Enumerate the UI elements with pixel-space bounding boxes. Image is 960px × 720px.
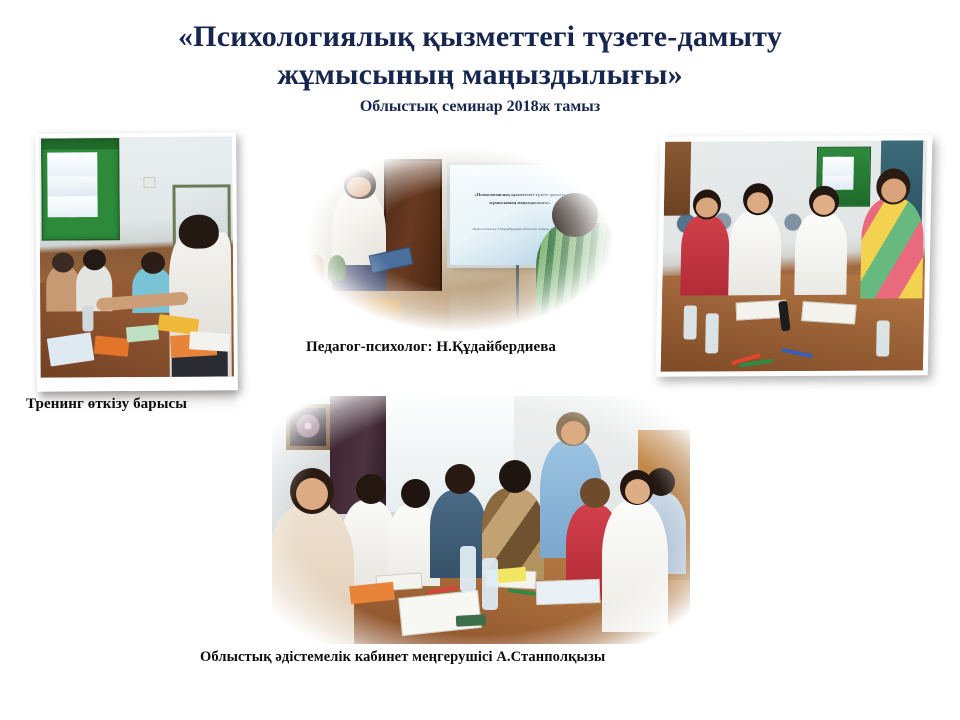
notebook — [536, 579, 601, 605]
sticky-note — [497, 567, 526, 583]
head — [580, 478, 610, 508]
page-title-line-1: «Психологиялық қызметтегі түзете-дамыту — [0, 18, 960, 56]
page-title-line-2: жұмысының маңыздылығы» — [0, 56, 960, 94]
caption-methodology-head: Облыстық әдістемелік кабинет меңгерушісі… — [200, 649, 605, 666]
paper-sheet — [189, 331, 230, 351]
participant-figure — [430, 490, 486, 578]
water-bottle — [683, 305, 697, 339]
paper-sheet — [94, 336, 130, 357]
face — [625, 479, 650, 504]
page-subtitle: Облыстық семинар 2018ж тамыз — [0, 96, 960, 118]
head — [445, 464, 475, 494]
participant-figure — [602, 500, 668, 632]
projector-screen-stand — [516, 265, 519, 317]
photo-presenter-center: «Психологиялық қызметтегі түзете-дамыту … — [300, 143, 618, 335]
paper-sheet — [126, 324, 159, 342]
audience-figure — [536, 223, 614, 335]
water-bottle — [876, 320, 890, 356]
water-bottle — [460, 546, 476, 592]
water-bottle — [82, 305, 93, 331]
head — [499, 460, 531, 493]
head — [401, 479, 430, 508]
framed-flower-picture — [286, 404, 330, 450]
water-bottle — [482, 558, 498, 610]
face — [296, 478, 328, 510]
wall-note — [143, 177, 155, 188]
photo-audience-right — [656, 135, 933, 376]
water-bottle — [705, 313, 719, 353]
photo-training-left — [35, 132, 238, 391]
slide-title-block: «Психологиялық қызметтегі түзете-дамыту … — [0, 18, 960, 118]
decorative-vase — [308, 255, 324, 289]
participant-figure — [794, 213, 848, 295]
wall-poster-green — [41, 138, 120, 241]
photo-training-left-image — [39, 136, 234, 377]
room-door — [384, 159, 442, 309]
photo-audience-right-image — [661, 140, 927, 371]
wooden-chair — [360, 299, 400, 335]
open-book — [801, 301, 857, 324]
photo-group-bottom — [272, 396, 690, 644]
caption-presenter: Педагог-психолог: Н.Құдайбердиева — [306, 339, 556, 356]
participant-figure — [860, 198, 924, 298]
presenter-figure — [332, 191, 386, 307]
participant-figure — [728, 211, 782, 295]
potted-plant — [328, 255, 346, 281]
head — [356, 474, 386, 504]
caption-training: Тренинг өткізу барысы — [26, 396, 187, 413]
mobile-phone — [456, 614, 487, 627]
foreground-participant-figure — [272, 504, 354, 644]
face — [561, 421, 586, 445]
participant-figure — [680, 215, 730, 295]
